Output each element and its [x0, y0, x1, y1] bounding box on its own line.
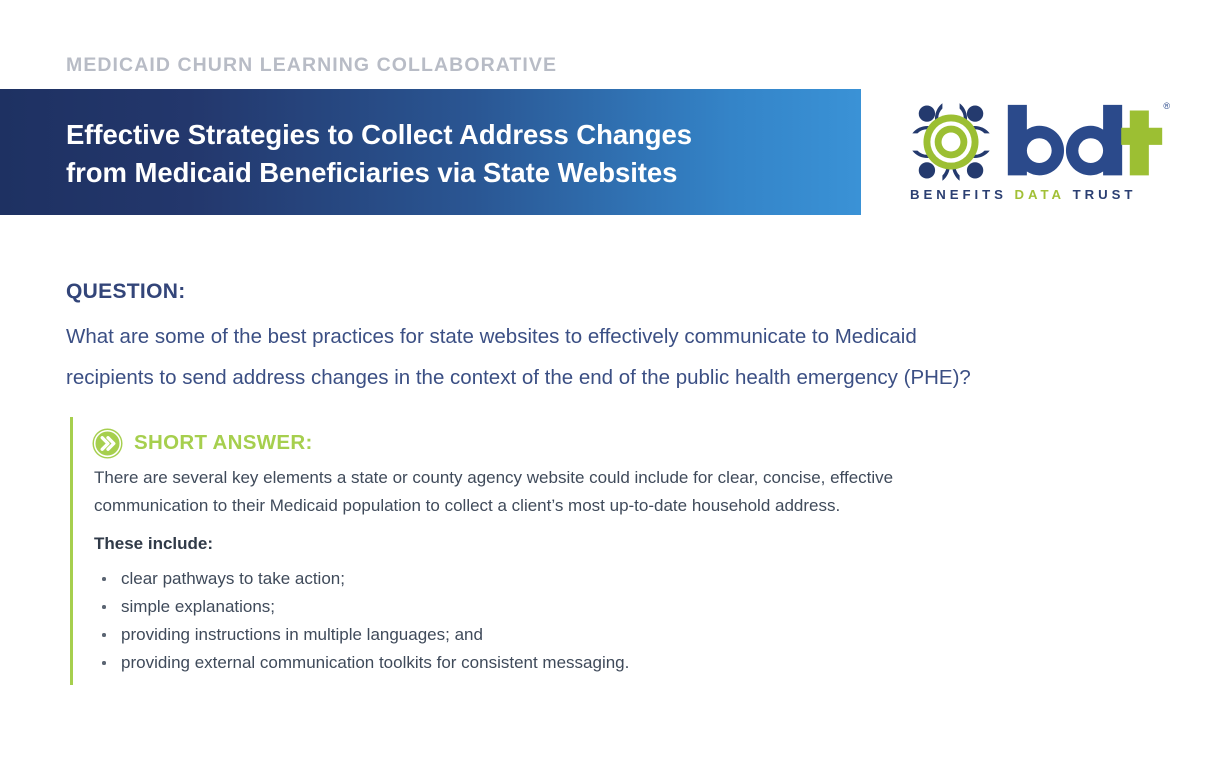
tagline-data: DATA [1015, 187, 1066, 202]
short-answer-header: SHORT ANSWER: [92, 417, 1127, 459]
page-title-line-2: from Medicaid Beneficiaries via State We… [66, 154, 826, 192]
short-answer-bullet-list: clear pathways to take action; simple ex… [94, 570, 1094, 682]
document-page: MEDICAID CHURN LEARNING COLLABORATIVE Ef… [0, 0, 1215, 757]
bullet-point-icon [102, 577, 106, 581]
list-item-label: providing external communication toolkit… [121, 654, 629, 671]
short-answer-paragraph-line-1: There are several key elements a state o… [94, 464, 1114, 492]
bdt-people-ring-logo-icon [908, 99, 994, 185]
short-answer-paragraph-line-2: communication to their Medicaid populati… [94, 492, 1114, 520]
callout-accent-rule [70, 417, 73, 685]
bdt-logo: ® BENEFITS DATA TRUST [908, 99, 1166, 207]
page-title: Effective Strategies to Collect Address … [66, 116, 826, 192]
short-answer-label: SHORT ANSWER: [134, 431, 313, 455]
bullet-point-icon [102, 661, 106, 665]
double-chevron-right-icon [92, 428, 123, 459]
tagline-trust: TRUST [1073, 187, 1137, 202]
list-item: simple explanations; [94, 598, 1094, 626]
list-item: providing instructions in multiple langu… [94, 626, 1094, 654]
bullet-point-icon [102, 605, 106, 609]
page-title-line-1: Effective Strategies to Collect Address … [66, 116, 826, 154]
registered-trademark-icon: ® [1163, 101, 1170, 111]
collaborative-kicker: MEDICAID CHURN LEARNING COLLABORATIVE [66, 54, 557, 77]
bullet-point-icon [102, 633, 106, 637]
list-item: providing external communication toolkit… [94, 654, 1094, 682]
these-include-subhead: These include: [94, 534, 213, 554]
list-item-label: providing instructions in multiple langu… [121, 626, 483, 643]
tagline-benefits: BENEFITS [910, 187, 1007, 202]
list-item-label: clear pathways to take action; [121, 570, 345, 587]
bdt-tagline: BENEFITS DATA TRUST [910, 187, 1136, 202]
question-text-line-2: recipients to send address changes in th… [66, 358, 1176, 399]
list-item-label: simple explanations; [121, 598, 275, 615]
callout-content: SHORT ANSWER: There are several key elem… [92, 417, 1127, 459]
short-answer-paragraph: There are several key elements a state o… [94, 464, 1114, 520]
bdt-wordmark: ® [1004, 101, 1166, 183]
question-text-line-1: What are some of the best practices for … [66, 317, 1176, 358]
question-label: QUESTION: [66, 280, 186, 304]
short-answer-callout: SHORT ANSWER: There are several key elem… [70, 417, 1130, 685]
question-text: What are some of the best practices for … [66, 317, 1176, 398]
title-banner: Effective Strategies to Collect Address … [0, 89, 861, 215]
list-item: clear pathways to take action; [94, 570, 1094, 598]
